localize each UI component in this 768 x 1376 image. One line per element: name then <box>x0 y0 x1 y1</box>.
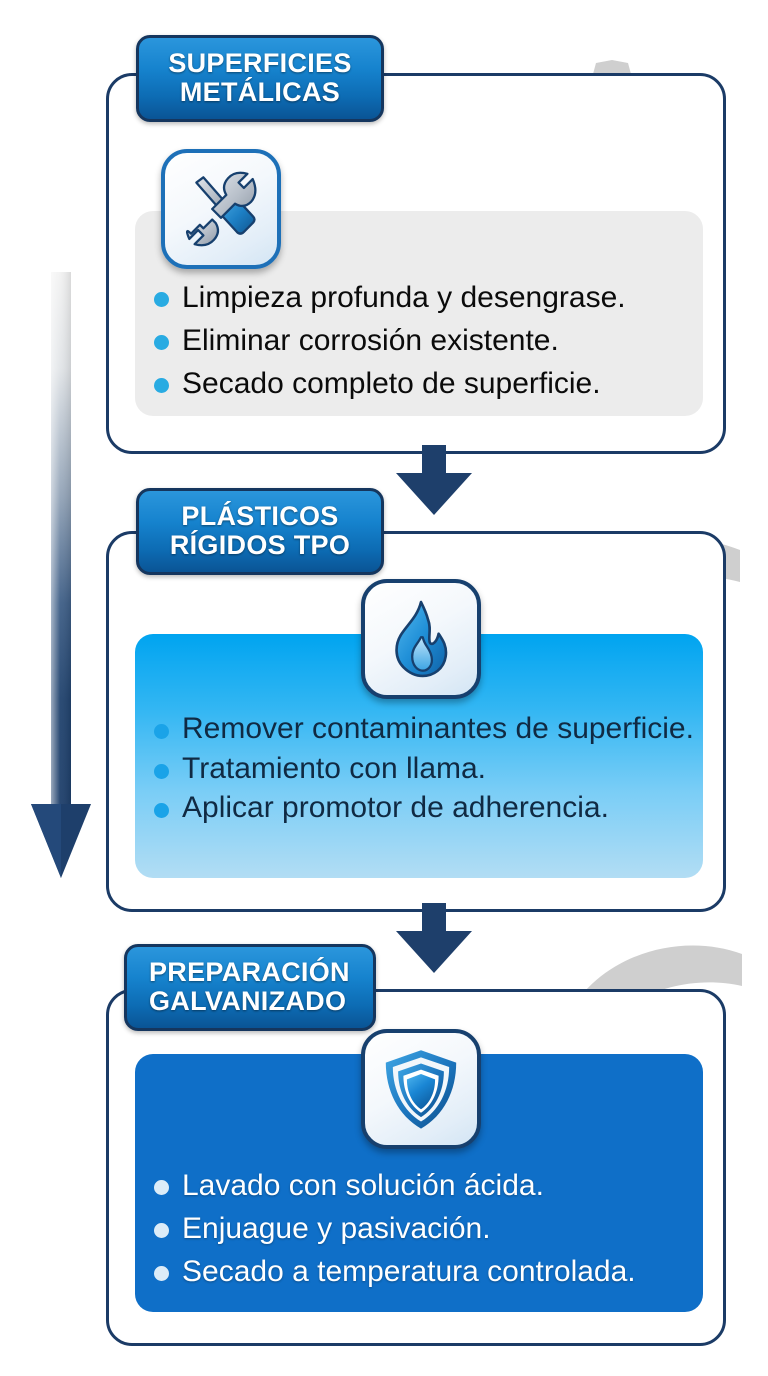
flame-icon-tile <box>361 579 481 699</box>
step-2-title-line-2: RÍGIDOS TPO <box>170 530 350 560</box>
list-item: Limpieza profunda y desengrase. <box>152 280 712 315</box>
list-item: Secado a temperatura controlada. <box>152 1254 712 1289</box>
step-2-title-badge[interactable]: PLÁSTICOS RÍGIDOS TPO <box>136 488 384 575</box>
step-2-bullet-list: Remover contaminantes de superficie. Tra… <box>152 712 697 831</box>
step-3-title-line-1: PREPARACIÓN <box>149 957 350 987</box>
step-1-title-line-1: SUPERFICIES <box>168 48 351 78</box>
infographic-stage: SUPERFICIES METÁLICAS <box>0 0 768 1376</box>
connector-arrow-1 <box>389 445 479 517</box>
tools-icon-tile <box>161 149 281 269</box>
step-2-title-line-1: PLÁSTICOS <box>181 501 338 531</box>
list-item: Aplicar promotor de adherencia. <box>152 791 697 825</box>
list-item: Eliminar corrosión existente. <box>152 323 712 358</box>
step-3-title-line-2: GALVANIZADO <box>149 986 346 1016</box>
list-item: Remover contaminantes de superficie. <box>152 712 697 746</box>
list-item: Enjuague y pasivación. <box>152 1211 712 1246</box>
step-1-title-badge[interactable]: SUPERFICIES METÁLICAS <box>136 35 384 122</box>
list-item: Tratamiento con llama. <box>152 752 697 786</box>
step-3-bullet-list: Lavado con solución ácida. Enjuague y pa… <box>152 1168 712 1289</box>
shield-icon-tile <box>361 1029 481 1149</box>
shield-icon <box>377 1045 465 1133</box>
step-1-bullet-list: Limpieza profunda y desengrase. Eliminar… <box>152 280 712 401</box>
flame-icon <box>377 595 465 683</box>
process-flow-arrow <box>30 272 92 880</box>
step-3-title-badge[interactable]: PREPARACIÓN GALVANIZADO <box>124 944 376 1031</box>
list-item: Lavado con solución ácida. <box>152 1168 712 1203</box>
step-1-title-line-2: METÁLICAS <box>180 77 340 107</box>
tools-icon <box>177 165 265 253</box>
connector-arrow-2 <box>389 903 479 975</box>
list-item: Secado completo de superficie. <box>152 366 712 401</box>
